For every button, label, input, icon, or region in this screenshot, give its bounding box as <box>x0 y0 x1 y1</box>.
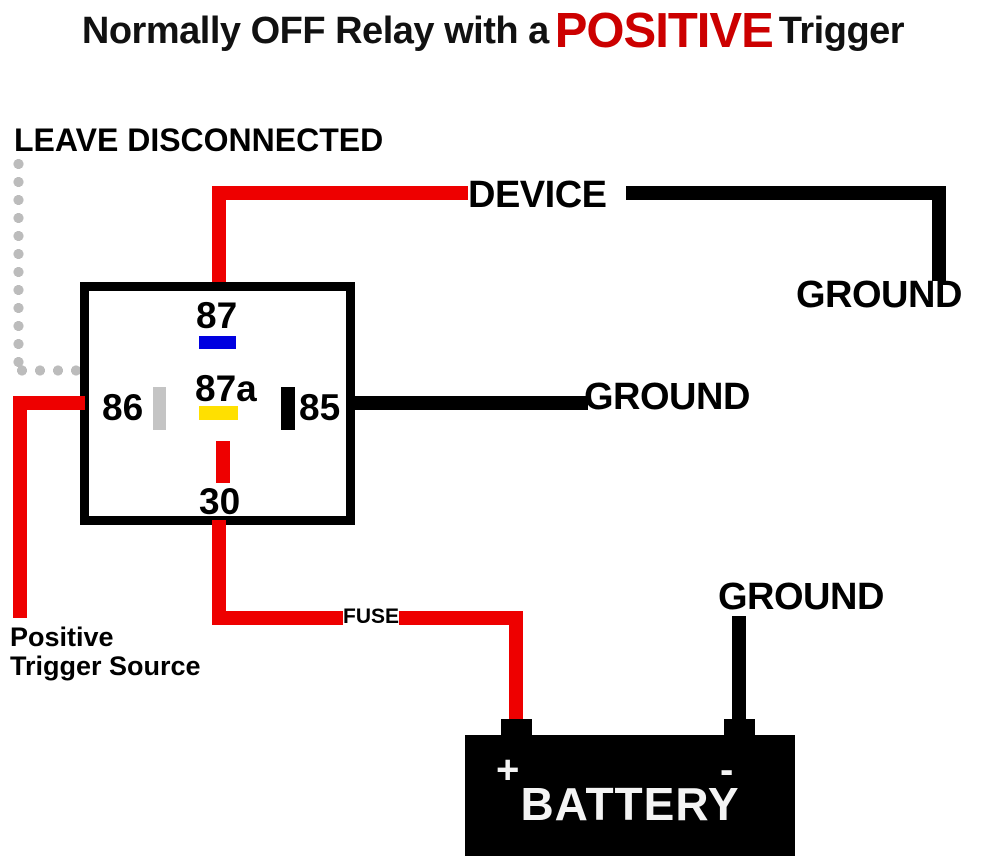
wire-trigger-drop <box>13 396 27 618</box>
wire-battery-negative-riser <box>732 616 746 726</box>
terminal-bar-85 <box>281 387 295 430</box>
wire-battery-positive-drop <box>509 611 523 724</box>
terminal-bar-30 <box>216 441 230 483</box>
title-text-suffix: Trigger <box>779 10 904 53</box>
wire-87-to-device <box>212 186 480 200</box>
terminal-bar-87 <box>199 336 236 349</box>
wire-85-to-ground <box>352 396 588 410</box>
ground-label-battery: GROUND <box>718 578 884 617</box>
leave-disconnected-note: LEAVE DISCONNECTED <box>14 124 383 157</box>
disconnected-path-vertical <box>13 155 24 371</box>
battery-label: BATTERY <box>465 777 795 831</box>
trigger-source-label-line2: Trigger Source <box>10 653 201 681</box>
relay-wiring-diagram: Normally OFF Relay with a POSITIVE Trigg… <box>0 0 986 860</box>
page-title: Normally OFF Relay with a POSITIVE Trigg… <box>0 0 986 62</box>
terminal-label-87: 87 <box>196 297 237 334</box>
wire-87-riser <box>212 186 226 286</box>
terminal-label-85: 85 <box>299 389 340 426</box>
wire-device-to-ground <box>626 186 946 200</box>
terminal-label-86: 86 <box>102 389 143 426</box>
trigger-source-label-line1: Positive <box>10 624 114 652</box>
relay-body: 87 87a 86 85 30 <box>80 282 355 525</box>
battery-body: + - BATTERY <box>465 735 795 856</box>
terminal-label-30: 30 <box>199 483 240 520</box>
ground-label-device: GROUND <box>796 276 962 315</box>
title-text-accent: POSITIVE <box>549 3 779 59</box>
wire-device-ground-drop <box>932 186 946 281</box>
title-text-primary: Normally OFF Relay with a <box>82 10 549 53</box>
terminal-label-87a: 87a <box>195 370 257 407</box>
wire-30-drop <box>212 520 226 618</box>
ground-label-85: GROUND <box>584 378 750 417</box>
terminal-bar-86 <box>153 387 166 430</box>
device-label: DEVICE <box>468 176 606 214</box>
terminal-bar-87a <box>199 406 238 420</box>
fuse-label: FUSE <box>343 606 399 627</box>
